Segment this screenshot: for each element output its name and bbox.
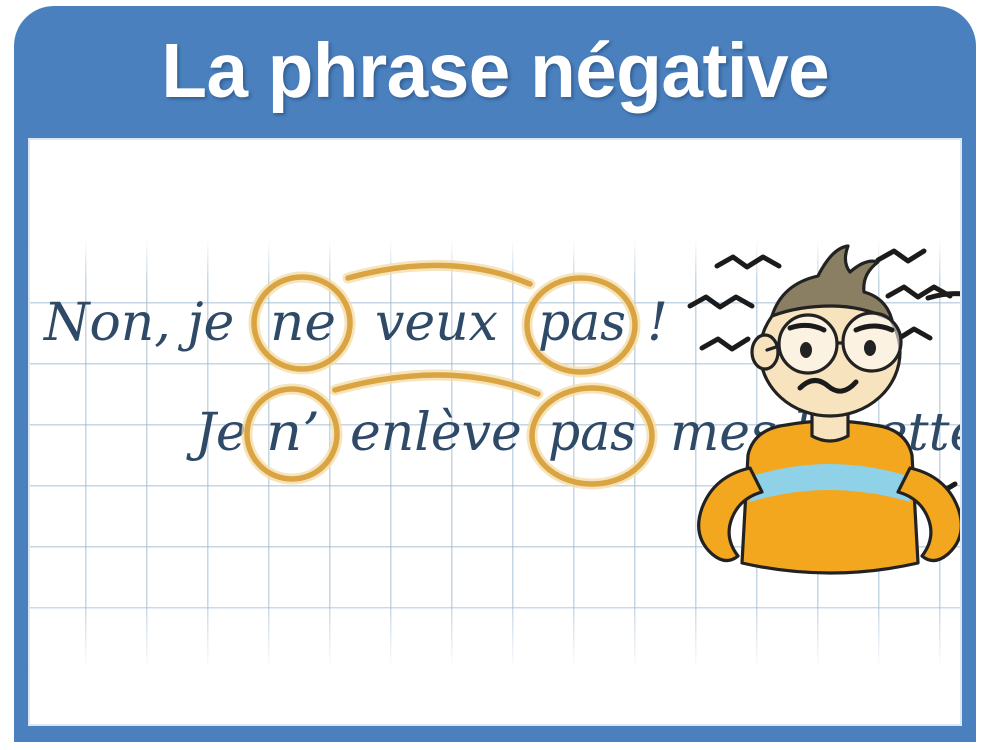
- line2-n-apostrophe: n’: [266, 403, 320, 463]
- line1-exclamation: !: [647, 293, 668, 353]
- anger-mark-right-4: [928, 294, 960, 301]
- boy-right-eye: [864, 340, 876, 356]
- anger-mark-left-1: [717, 257, 779, 267]
- line2-enleve: enlève: [350, 403, 522, 463]
- page-title: La phrase négative: [161, 33, 829, 110]
- line2-prefix: Je: [186, 403, 247, 463]
- slide: La phrase négative Non, je ne veux: [0, 0, 989, 750]
- grid-paper-illustration: Non, je ne veux pas ! Je: [30, 240, 960, 670]
- anger-mark-right-1: [878, 251, 924, 261]
- content-panel: Non, je ne veux pas ! Je: [30, 140, 960, 724]
- handwriting-svg: Non, je ne veux pas ! Je: [30, 240, 960, 670]
- boy-ear: [752, 335, 778, 369]
- boy-left-eye: [800, 342, 812, 358]
- line1-prefix: Non, je: [42, 293, 234, 353]
- anger-mark-left-3: [702, 339, 748, 349]
- line1-veux: veux: [375, 293, 498, 353]
- line1-pas: pas: [538, 293, 626, 353]
- title-band: La phrase négative: [14, 6, 976, 136]
- line1-ne: ne: [270, 293, 336, 353]
- line2-pas: pas: [548, 403, 636, 463]
- anger-mark-left-2: [690, 297, 752, 307]
